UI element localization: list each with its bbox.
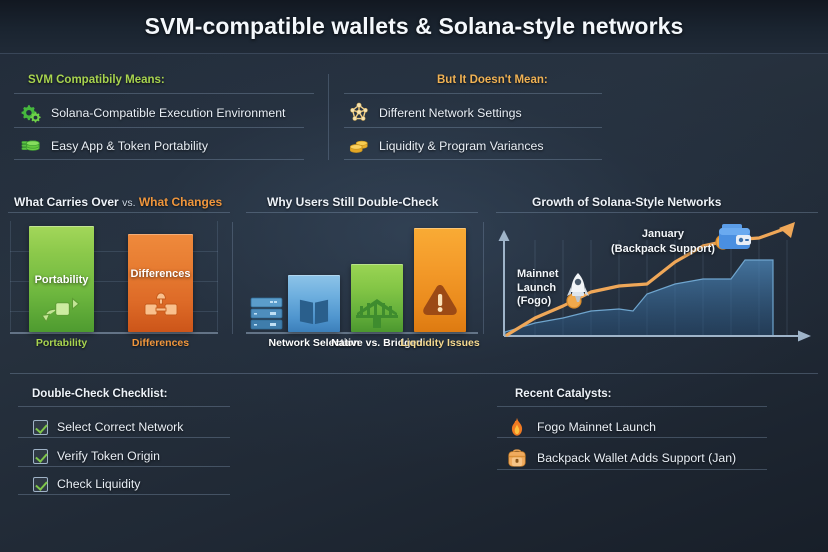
checkbox-verify-token-origin[interactable]	[33, 449, 48, 464]
svm-means-item-2[interactable]: Easy App & Token Portability	[20, 131, 208, 161]
trend-arrowhead	[779, 222, 795, 238]
bar-network-selection[interactable]	[288, 275, 340, 332]
infographic-canvas: SVM-compatible wallets & Solana-style ne…	[0, 0, 828, 552]
catalysts-heading: Recent Catalysts:	[515, 388, 612, 400]
divider-top-left-2	[14, 127, 304, 128]
divider-catalysts-3	[497, 469, 767, 470]
panel-left-title-vs: vs.	[122, 197, 135, 209]
catalysts-item-2-label: Backpack Wallet Adds Support (Jan)	[537, 451, 736, 465]
annotation-mainnet-line-3: (Fogo)	[517, 295, 559, 309]
catalysts-item-1-label: Fogo Mainnet Launch	[537, 420, 656, 434]
checkbox-check-liquidity[interactable]	[33, 477, 48, 492]
divider-panel-mid	[246, 212, 478, 213]
panel-separator-1	[232, 222, 233, 334]
annotation-mainnet-line-1: Mainnet	[517, 268, 559, 282]
divider-top-right-2	[344, 127, 602, 128]
bar-liquidity-issues-xlabel: Liquidity Issues	[384, 337, 496, 349]
svm-means-heading: SVM Compatibily Means:	[28, 74, 165, 86]
doesnt-mean-item-1-label: Different Network Settings	[379, 106, 522, 120]
gridline-v-2	[217, 221, 218, 331]
panel-mid-title: Why Users Still Double-Check	[267, 195, 438, 209]
annotation-january-line-1: January	[611, 227, 715, 242]
checklist-heading: Double-Check Checklist:	[32, 388, 167, 400]
annotation-january-line-2: (Backpack Support)	[611, 242, 715, 257]
panel-separator-2	[483, 222, 484, 334]
panel-right-title: Growth of Solana-Style Networks	[532, 195, 721, 209]
flame-icon	[506, 416, 528, 438]
y-axis	[499, 230, 510, 336]
divider-top-right-1	[344, 93, 602, 94]
doesnt-mean-item-2[interactable]: Liquidity & Program Variances	[348, 131, 544, 161]
coins-stack-icon	[20, 135, 42, 157]
annotation-mainnet-launch: Mainnet Launch (Fogo)	[517, 268, 559, 309]
panel-left-title-b: What Changes	[139, 195, 222, 209]
bar-portability[interactable]: Portability	[29, 226, 94, 332]
divider-checklist-4	[18, 494, 230, 495]
divider-panel-right	[496, 212, 818, 213]
gears-icon	[20, 102, 42, 124]
backpack-icon	[506, 447, 528, 469]
header-bar: SVM-compatible wallets & Solana-style ne…	[0, 0, 828, 54]
divider-catalysts-2	[497, 437, 767, 438]
top-row-separator	[328, 74, 329, 160]
divider-checklist-1	[18, 406, 230, 407]
svm-means-item-1-label: Solana-Compatible Execution Environment	[51, 106, 285, 120]
panel-left-title: What Carries Over vs. What Changes	[14, 195, 222, 209]
svm-means-item-1[interactable]: Solana-Compatible Execution Environment	[20, 98, 285, 128]
transfer-arrows-icon	[41, 292, 83, 324]
gold-coins-icon	[348, 135, 370, 157]
divider-top-left-3	[14, 159, 304, 160]
rocket-icon	[565, 272, 591, 306]
network-settings-icon	[141, 290, 181, 322]
svm-means-item-2-label: Easy App & Token Portability	[51, 139, 208, 153]
doesnt-mean-heading: But It Doesn't Mean:	[437, 74, 548, 86]
network-nodes-icon	[348, 102, 370, 124]
server-stack-icon	[250, 297, 283, 333]
divider-top-right-3	[344, 159, 602, 160]
annotation-mainnet-line-2: Launch	[517, 282, 559, 296]
bridge-icon	[354, 296, 400, 328]
bar-portability-caption: Portability	[29, 274, 94, 286]
bar-differences[interactable]: Differences	[128, 234, 193, 332]
doesnt-mean-item-2-label: Liquidity & Program Variances	[379, 139, 544, 153]
doesnt-mean-item-1[interactable]: Different Network Settings	[348, 98, 522, 128]
gridline-v-1	[10, 221, 11, 331]
book-open-icon	[295, 296, 333, 326]
bar-differences-xlabel: Differences	[128, 337, 193, 349]
divider-panel-left	[8, 212, 230, 213]
panel-left-baseline	[10, 332, 218, 334]
annotation-january: January (Backpack Support)	[611, 227, 715, 257]
page-title: SVM-compatible wallets & Solana-style ne…	[145, 13, 684, 40]
divider-catalysts-1	[497, 406, 767, 407]
bar-liquidity-issues[interactable]	[414, 228, 466, 332]
bar-native-vs-bridged[interactable]	[351, 264, 403, 332]
wallet-icon	[718, 223, 752, 251]
divider-bottom-row	[10, 373, 818, 374]
bar-portability-xlabel: Portability	[29, 337, 94, 349]
divider-checklist-3	[18, 466, 230, 467]
checklist-item-2-label: Verify Token Origin	[57, 449, 160, 463]
divider-checklist-2	[18, 437, 230, 438]
checklist-item-3-label: Check Liquidity	[57, 477, 140, 491]
checklist-item-1-label: Select Correct Network	[57, 420, 183, 434]
warning-triangle-icon	[420, 282, 460, 318]
divider-top-left-1	[14, 93, 314, 94]
panel-left-title-a: What Carries Over	[14, 195, 119, 209]
checkbox-select-correct-network[interactable]	[33, 420, 48, 435]
bar-differences-caption: Differences	[128, 268, 193, 280]
